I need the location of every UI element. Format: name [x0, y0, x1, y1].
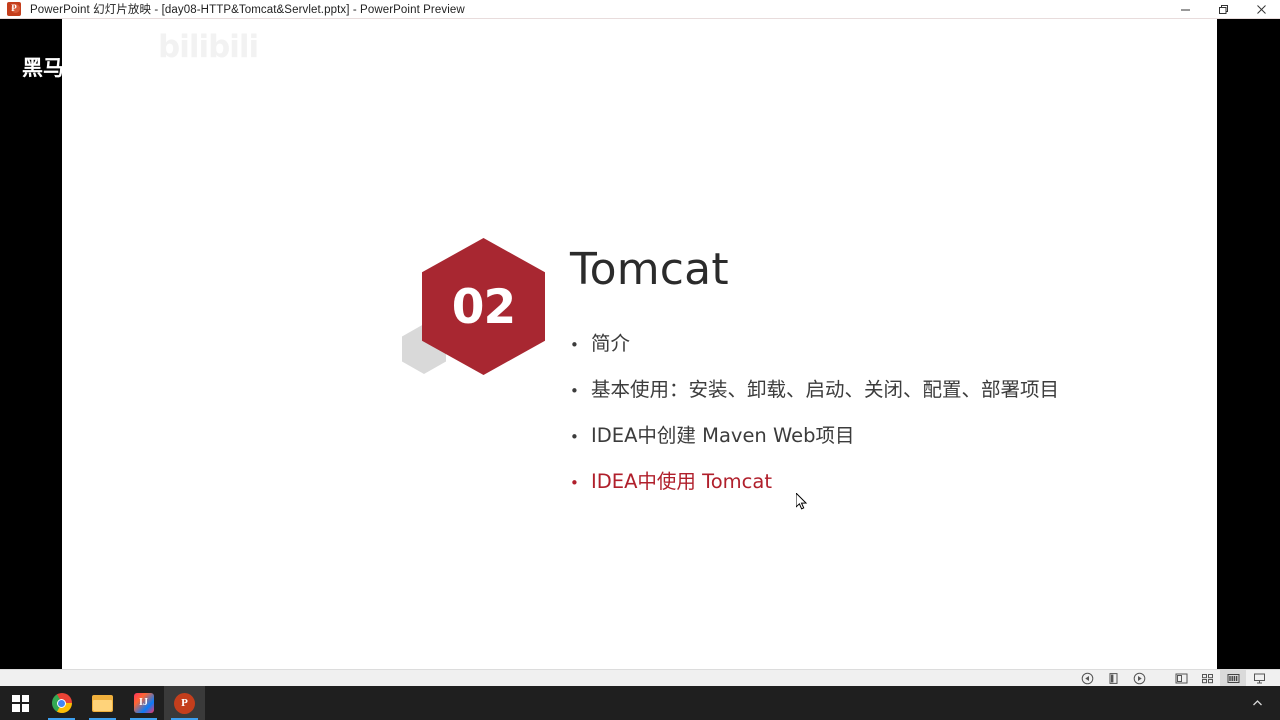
section-number-badge: 02	[402, 219, 582, 379]
next-slide-icon[interactable]	[1126, 670, 1152, 687]
view-mode-controls	[1168, 670, 1272, 687]
bullet-text: 简介	[591, 327, 630, 356]
bilibili-watermark: bilibili	[158, 29, 258, 65]
idea-icon: IJ	[134, 693, 154, 713]
slide-sorter-icon[interactable]	[1194, 670, 1220, 687]
bullet-item-1: • 简介	[570, 327, 1190, 373]
powerpoint-icon: P	[174, 693, 195, 714]
window-controls	[1166, 0, 1280, 19]
course-logo-text: 黑马	[22, 52, 62, 79]
slide-bullet-list: • 简介 • 基本使用：安装、卸载、启动、关闭、配置、部署项目 • IDEA中创…	[570, 327, 1190, 511]
bullet-item-3: • IDEA中创建 Maven Web项目	[570, 419, 1190, 465]
status-bar	[0, 669, 1280, 686]
restore-button[interactable]	[1204, 0, 1242, 19]
chrome-icon	[52, 693, 72, 713]
normal-view-icon[interactable]	[1168, 670, 1194, 687]
taskbar-chrome[interactable]	[41, 686, 82, 720]
taskbar-intellij-idea[interactable]: IJ	[123, 686, 164, 720]
reading-view-icon[interactable]	[1220, 670, 1246, 687]
bullet-text: 基本使用：安装、卸载、启动、关闭、配置、部署项目	[591, 373, 1059, 402]
title-bar: P PowerPoint 幻灯片放映 - [day08-HTTP&Tomcat&…	[0, 0, 1280, 19]
mouse-pointer	[796, 493, 808, 512]
slide-canvas[interactable]: bilibili 02 Tomcat • 简介 • 基本使用：安装、卸载、启动、…	[62, 19, 1217, 669]
bullet-marker: •	[570, 430, 591, 445]
slide-title: Tomcat	[570, 244, 729, 295]
powerpoint-icon: P	[6, 1, 22, 17]
bullet-item-2: • 基本使用：安装、卸载、启动、关闭、配置、部署项目	[570, 373, 1190, 419]
section-number-label: 02	[452, 280, 515, 335]
windows-icon	[12, 695, 29, 712]
close-button[interactable]	[1242, 0, 1280, 19]
bullet-text: IDEA中创建 Maven Web项目	[591, 419, 855, 448]
bullet-item-4-highlighted: • IDEA中使用 Tomcat	[570, 465, 1190, 511]
course-logo-strip: 黑马	[0, 19, 62, 79]
bullet-text: IDEA中使用 Tomcat	[591, 465, 772, 494]
taskbar-file-explorer[interactable]	[82, 686, 123, 720]
pause-icon[interactable]	[1100, 670, 1126, 687]
windows-taskbar: IJ P	[0, 686, 1280, 720]
slide-stage[interactable]: bilibili 02 Tomcat • 简介 • 基本使用：安装、卸载、启动、…	[0, 19, 1280, 669]
taskbar-powerpoint[interactable]: P	[164, 686, 205, 720]
powerpoint-preview-window: P PowerPoint 幻灯片放映 - [day08-HTTP&Tomcat&…	[0, 0, 1280, 720]
previous-slide-icon[interactable]	[1074, 670, 1100, 687]
bullet-marker: •	[570, 476, 591, 491]
bullet-marker: •	[570, 338, 591, 353]
folder-icon	[92, 695, 113, 712]
minimize-button[interactable]	[1166, 0, 1204, 19]
start-button[interactable]	[0, 686, 41, 720]
bullet-marker: •	[570, 384, 591, 399]
playback-controls	[1074, 670, 1152, 687]
window-title: PowerPoint 幻灯片放映 - [day08-HTTP&Tomcat&Se…	[30, 1, 465, 17]
slideshow-icon[interactable]	[1246, 670, 1272, 687]
show-hidden-icons-button[interactable]	[1244, 686, 1270, 720]
system-tray	[1244, 686, 1280, 720]
